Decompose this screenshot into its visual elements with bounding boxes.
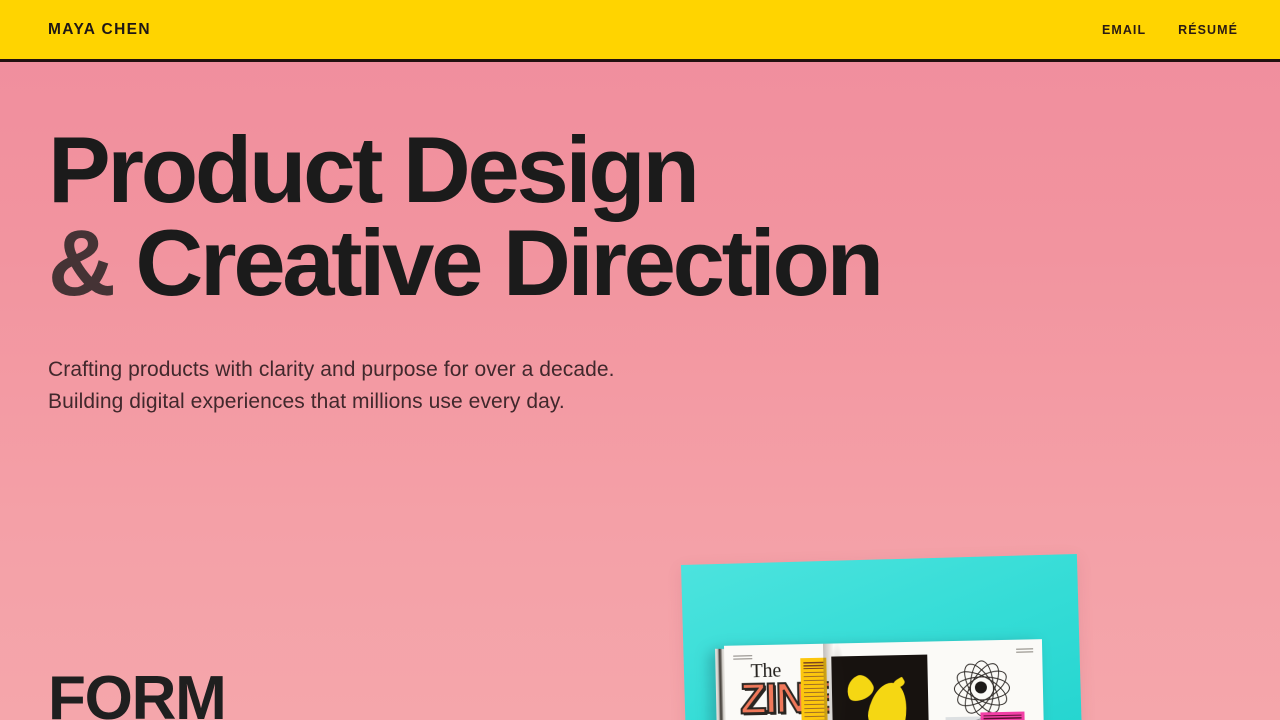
magazine-page-right [932, 639, 1044, 720]
magazine-page-left: The ZINE [724, 644, 830, 720]
portfolio-page: MAYA CHEN EMAIL RÉSUMÉ Product Design & … [0, 0, 1280, 720]
magazine-page-middle [828, 641, 934, 720]
brand-name[interactable]: MAYA CHEN [48, 21, 151, 39]
hero-subtitle: Crafting products with clarity and purpo… [48, 354, 615, 418]
subtitle-line-one: Crafting products with clarity and purpo… [48, 354, 615, 386]
page-title: Product Design & Creative Direction [48, 124, 881, 309]
nav-link-email[interactable]: EMAIL [1102, 23, 1146, 37]
nav-link-resume[interactable]: RÉSUMÉ [1178, 23, 1238, 37]
pink-sticky-note [980, 712, 1025, 720]
black-art-plate [831, 655, 929, 720]
magazine-spread: The ZINE [724, 639, 1044, 720]
section-heading-form: FORM [48, 668, 226, 720]
top-navigation-bar: MAYA CHEN EMAIL RÉSUMÉ [0, 0, 1280, 62]
featured-photo-block[interactable]: The ZINE [681, 565, 1081, 720]
headline-line-two-text: Creative Direction [113, 210, 881, 315]
zine-yellow-sidebar [800, 658, 828, 720]
ampersand: & [48, 210, 113, 315]
sidebar-body-lines [804, 672, 825, 720]
sticky-note-headline-lines [984, 715, 1022, 720]
subtitle-line-two: Building digital experiences that millio… [48, 386, 615, 418]
magazine-spread-image: The ZINE [715, 639, 1044, 720]
nav-links: EMAIL RÉSUMÉ [1102, 23, 1238, 37]
headline-line-two: & Creative Direction [48, 217, 881, 310]
headline-line-one: Product Design [48, 124, 881, 217]
page-folio-mark [1016, 648, 1033, 652]
atom-diagram-icon [952, 659, 1009, 716]
sidebar-headline-lines [803, 662, 823, 669]
